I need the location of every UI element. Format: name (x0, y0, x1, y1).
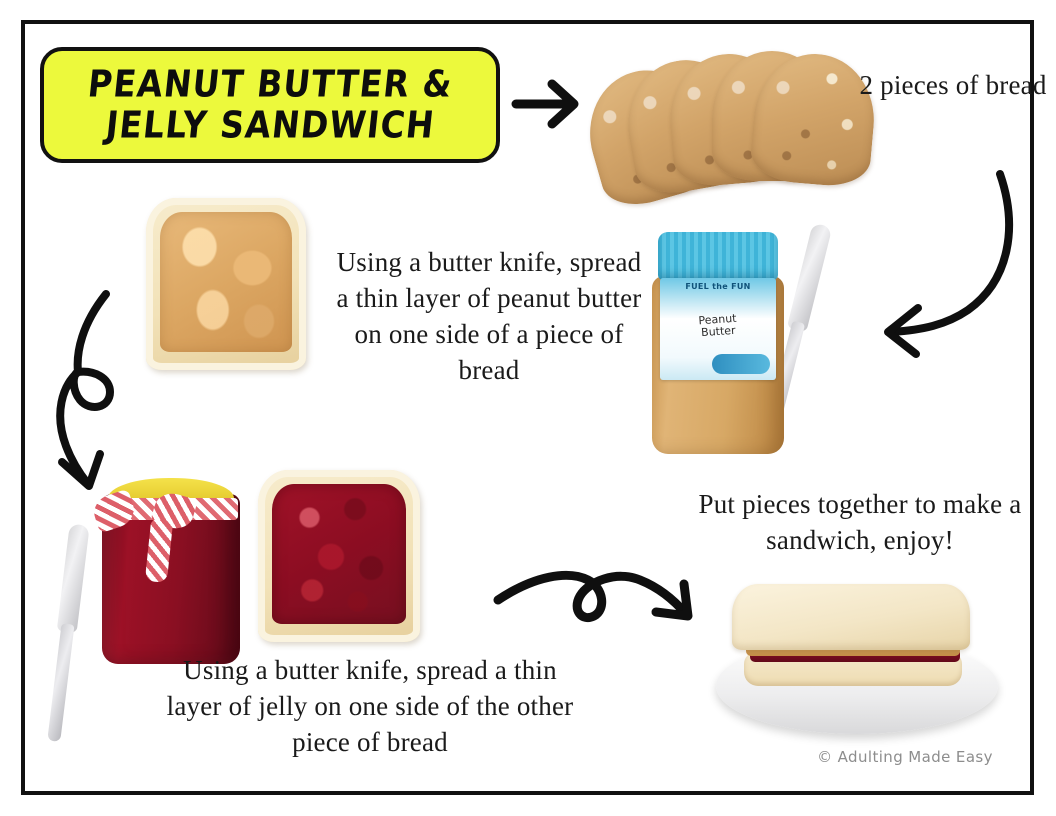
arrow-pb-to-jelly-icon (32, 286, 152, 498)
peanut-butter-jar-image: FUEL the FUN Peanut Butter (652, 232, 784, 454)
title-line-2: JELLY SANDWICH (103, 103, 437, 148)
step-1-instruction: Using a butter knife, spread a thin laye… (330, 245, 648, 389)
step-2-instruction: Using a butter knife, spread a thin laye… (160, 653, 580, 761)
peanut-butter-spread (160, 212, 292, 352)
jelly-spread (272, 484, 406, 624)
label-two-pieces-of-bread: 2 pieces of bread (858, 68, 1048, 104)
toast-with-jelly-image (258, 470, 420, 642)
title-line-1: PEANUT BUTTER & (85, 62, 454, 107)
jar-label-tagline: FUEL the FUN (660, 282, 776, 291)
jar-label: FUEL the FUN Peanut Butter (660, 278, 776, 380)
finished-sandwich-image (706, 578, 1006, 744)
toast-with-peanut-butter-image (146, 198, 306, 370)
jar-label-brand-mark (712, 354, 770, 374)
jelly-jar-image (98, 468, 244, 664)
title-banner: PEANUT BUTTER & JELLY SANDWICH (40, 47, 500, 163)
credit-line: © Adulting Made Easy (790, 748, 1020, 766)
jar-label-product-name: Peanut Butter (660, 310, 776, 343)
arrow-bread-to-knife-icon (850, 168, 1040, 348)
arrow-title-to-bread-icon (512, 76, 592, 130)
sandwich-top-slice (732, 584, 970, 650)
arrow-jelly-to-sandwich-icon (492, 558, 714, 646)
jar-lid (658, 232, 778, 280)
infographic-page: PEANUT BUTTER & JELLY SANDWICH 2 pieces … (0, 0, 1056, 816)
step-3-instruction: Put pieces together to make a sandwich, … (690, 487, 1030, 559)
bread-stack-image (588, 48, 888, 196)
